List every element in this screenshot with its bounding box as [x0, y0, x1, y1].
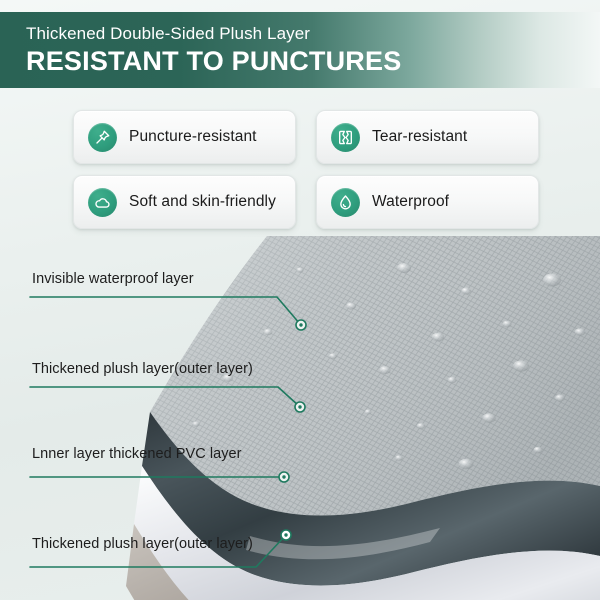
feature-label: Waterproof	[372, 193, 449, 211]
header-banner: Thickened Double-Sided Plush Layer RESIS…	[0, 12, 600, 88]
callout-label-inner-pvc-layer: Lnner layer thickened PVC layer	[32, 446, 242, 462]
feature-card-puncture-resistant[interactable]: Puncture-resistant	[73, 110, 296, 164]
callout-label-thickened-plush-outer-bottom: Thickened plush layer(outer layer)	[32, 536, 253, 552]
product-infographic: Thickened Double-Sided Plush Layer RESIS…	[0, 0, 600, 600]
feature-label: Tear-resistant	[372, 128, 467, 146]
tear-icon	[331, 123, 360, 152]
header-text-group: Thickened Double-Sided Plush Layer RESIS…	[26, 12, 401, 88]
callout-label-thickened-plush-outer-top: Thickened plush layer(outer layer)	[32, 361, 253, 377]
feature-card-soft-skin-friendly[interactable]: Soft and skin-friendly	[73, 175, 296, 229]
feature-card-grid: Puncture-resistant Tear-resistant Soft a…	[73, 110, 539, 229]
water-drop-icon	[331, 188, 360, 217]
header-title: RESISTANT TO PUNCTURES	[26, 46, 401, 76]
feature-label: Soft and skin-friendly	[129, 193, 276, 211]
callout-label-invisible-waterproof-layer: Invisible waterproof layer	[32, 271, 194, 287]
cloud-icon	[88, 188, 117, 217]
feature-label: Puncture-resistant	[129, 128, 257, 146]
pushpin-icon	[88, 123, 117, 152]
header-subtitle: Thickened Double-Sided Plush Layer	[26, 24, 401, 44]
feature-card-waterproof[interactable]: Waterproof	[316, 175, 539, 229]
feature-card-tear-resistant[interactable]: Tear-resistant	[316, 110, 539, 164]
